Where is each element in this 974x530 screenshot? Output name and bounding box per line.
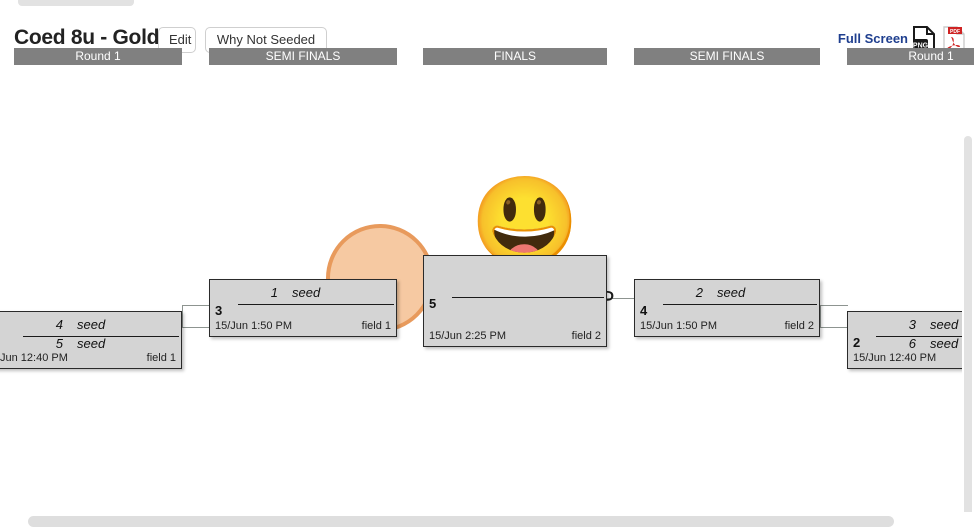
match-divider <box>876 336 974 337</box>
game-number: 2 <box>853 335 860 350</box>
match-divider <box>663 304 817 305</box>
slot-seed: 1 <box>238 285 292 300</box>
bracket-canvas: 😃 CHAMPIONSHIP 4seed5seedJun 12:40 PMfie… <box>0 66 974 496</box>
match-divider <box>238 304 394 305</box>
match-slot[interactable]: 1seed <box>238 285 392 304</box>
horizontal-scrollbar-thumb[interactable] <box>28 516 894 527</box>
slot-team: seed <box>77 336 105 351</box>
slot-team: seed <box>930 336 958 351</box>
match-footer: 15/Jun 2:25 PMfield 2 <box>424 330 606 344</box>
slot-team: seed <box>930 317 958 332</box>
match-slot[interactable]: 4seed <box>23 317 177 336</box>
horizontal-scrollbar[interactable] <box>0 512 974 530</box>
full-screen-link[interactable]: Full Screen <box>838 31 908 46</box>
page-top-stub <box>18 0 134 6</box>
vertical-scrollbar-thumb[interactable] <box>964 136 972 530</box>
match-time: 15/Jun 1:50 PM <box>215 320 292 332</box>
connector-semi-left-in <box>182 305 210 306</box>
slot-seed: 6 <box>876 336 930 351</box>
round-header-2: FINALS <box>423 48 607 65</box>
match-footer: 15/Jun 1:50 PMfield 1 <box>210 320 396 334</box>
bracket-page: Coed 8u - Gold Edit Why Not Seeded Full … <box>0 0 974 530</box>
round-header-4: Round 1 <box>847 48 974 65</box>
match-field: field 2 <box>785 320 814 332</box>
match-divider <box>23 336 179 337</box>
connector-semi-right-out <box>820 305 848 306</box>
slot-seed: 4 <box>23 317 77 332</box>
match-footer: 15/Jun 12:40 PM <box>848 352 974 366</box>
connector-r1-right-vertical <box>820 305 821 327</box>
match-field: field 2 <box>572 330 601 342</box>
match-time: 15/Jun 12:40 PM <box>853 352 936 364</box>
game-number: 5 <box>429 296 436 311</box>
connector-r1-right-in <box>820 327 848 328</box>
connector-r1-left-to-semi <box>182 327 210 328</box>
match-slot[interactable]: 2seed <box>663 285 815 304</box>
game-number: 3 <box>215 303 222 318</box>
match-slot[interactable] <box>452 278 602 297</box>
svg-text:PDF: PDF <box>950 29 960 35</box>
match-box-final[interactable]: 515/Jun 2:25 PMfield 2 <box>423 255 607 347</box>
match-slot[interactable] <box>452 297 602 316</box>
slot-seed: 5 <box>23 336 77 351</box>
bracket-header: Coed 8u - Gold Edit Why Not Seeded Full … <box>0 12 974 46</box>
match-slot[interactable]: 3seed <box>876 317 974 336</box>
match-footer: Jun 12:40 PMfield 1 <box>0 352 181 366</box>
match-divider <box>452 297 604 298</box>
match-box-r1-right[interactable]: 23seed6seed15/Jun 12:40 PM <box>847 311 974 369</box>
slot-team: seed <box>77 317 105 332</box>
match-time: 15/Jun 2:25 PM <box>429 330 506 342</box>
page-title: Coed 8u - Gold <box>14 26 159 50</box>
vertical-scrollbar[interactable] <box>962 66 974 512</box>
connector-r1-left-vertical <box>182 305 183 327</box>
match-time: 15/Jun 1:50 PM <box>640 320 717 332</box>
match-box-semi-right[interactable]: 42seed15/Jun 1:50 PMfield 2 <box>634 279 820 337</box>
slot-team: seed <box>717 285 745 300</box>
match-footer: 15/Jun 1:50 PMfield 2 <box>635 320 819 334</box>
match-box-semi-left[interactable]: 31seed15/Jun 1:50 PMfield 1 <box>209 279 397 337</box>
game-number: 4 <box>640 303 647 318</box>
round-header-1: SEMI FINALS <box>209 48 397 65</box>
grinning-face-emoji: 😃 <box>470 178 580 266</box>
slot-seed: 2 <box>663 285 717 300</box>
round-header-0: Round 1 <box>14 48 182 65</box>
match-time: Jun 12:40 PM <box>0 352 68 364</box>
slot-seed: 3 <box>876 317 930 332</box>
match-field: field 1 <box>362 320 391 332</box>
round-header-3: SEMI FINALS <box>634 48 820 65</box>
match-box-r1-left[interactable]: 4seed5seedJun 12:40 PMfield 1 <box>0 311 182 369</box>
slot-team: seed <box>292 285 320 300</box>
match-field: field 1 <box>147 352 176 364</box>
